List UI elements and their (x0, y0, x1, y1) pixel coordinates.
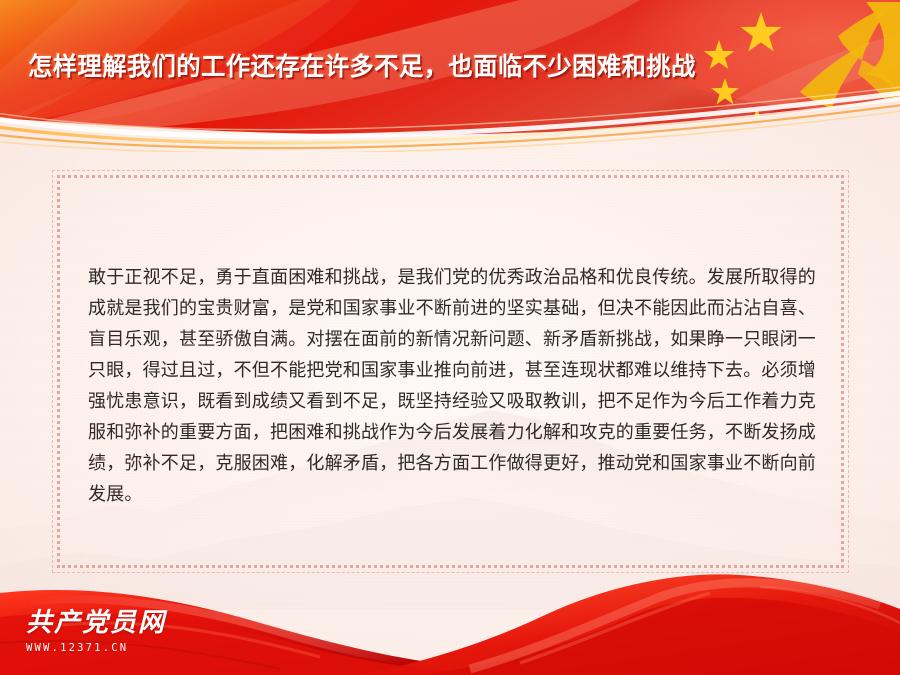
bottom-ribbon: 共产党员网 WWW.12371.CN (0, 565, 900, 675)
site-logo: 共产党员网 WWW.12371.CN (26, 608, 176, 655)
site-logo-url: WWW.12371.CN (26, 641, 176, 655)
banner-title: 怎样理解我们的工作还存在许多不足，也面临不少困难和挑战 (28, 52, 696, 82)
top-banner: 怎样理解我们的工作还存在许多不足，也面临不少困难和挑战 (0, 0, 900, 152)
body-paragraph: 敢于正视不足，勇于直面困难和挑战，是我们党的优秀政治品格和优良传统。发展所取得的… (88, 262, 816, 510)
site-logo-text: 共产党员网 (26, 608, 176, 638)
poster-canvas: 怎样理解我们的工作还存在许多不足，也面临不少困难和挑战 敢于正视不足，勇于直面困… (0, 0, 900, 675)
